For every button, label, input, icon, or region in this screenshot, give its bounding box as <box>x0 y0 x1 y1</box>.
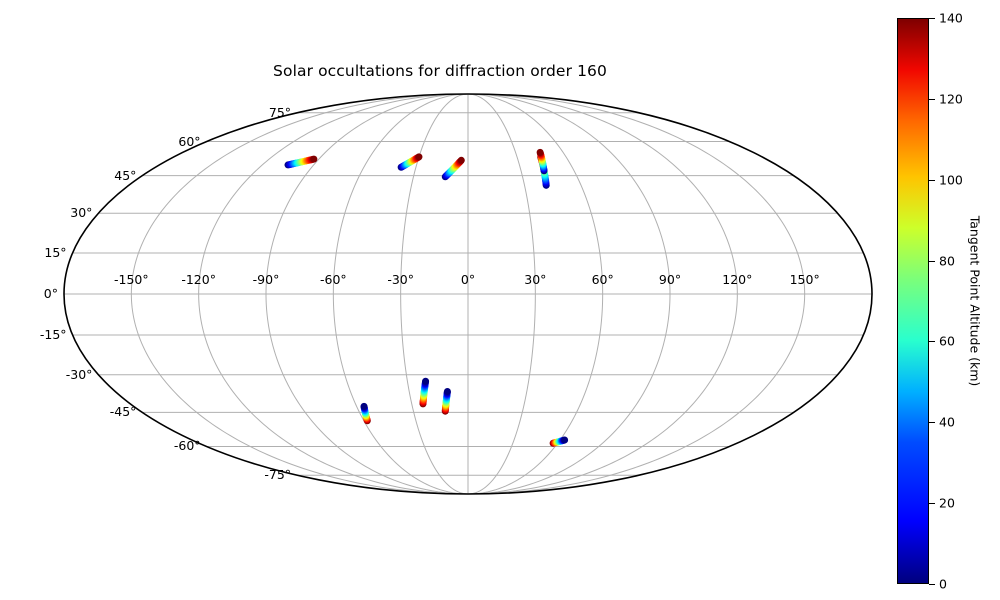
scatter-point <box>361 403 368 410</box>
mollweide-map <box>62 92 874 496</box>
data-points <box>284 149 568 447</box>
lon-tick--60: -60° <box>303 272 363 287</box>
lon-tick--120: -120° <box>169 272 229 287</box>
colorbar-tick-label-20: 20 <box>939 496 955 511</box>
lat-tick-15: 15° <box>7 245 67 260</box>
lon-tick-90: 90° <box>640 272 700 287</box>
graticule <box>64 94 872 494</box>
scatter-point <box>458 157 465 164</box>
figure-canvas: Solar occultations for diffraction order… <box>0 0 1000 600</box>
colorbar-tick-mark <box>929 261 935 262</box>
lon-tick-60: 60° <box>573 272 633 287</box>
colorbar-tick-mark <box>929 341 935 342</box>
scatter-point <box>444 388 451 395</box>
scatter-point <box>561 437 568 444</box>
scatter-point <box>537 149 544 156</box>
colorbar-tick-mark <box>929 18 935 19</box>
lon-tick--90: -90° <box>236 272 296 287</box>
lat-tick-75: 75° <box>231 105 291 120</box>
colorbar-tick-label-60: 60 <box>939 334 955 349</box>
colorbar-tick-label-40: 40 <box>939 415 955 430</box>
colorbar-tick-mark <box>929 180 935 181</box>
lat-tick--75: -75° <box>231 467 291 482</box>
colorbar-axis-label: Tangent Point Altitude (km) <box>968 216 983 387</box>
page-title: Solar occultations for diffraction order… <box>0 62 880 80</box>
lon-tick--150: -150° <box>101 272 161 287</box>
lat-tick--60: -60° <box>141 438 201 453</box>
colorbar-gradient <box>897 18 929 584</box>
colorbar: 020406080100120140 Tangent Point Altitud… <box>897 18 997 584</box>
lat-tick-45: 45° <box>76 168 136 183</box>
map-svg <box>62 92 874 496</box>
scatter-point <box>310 156 317 163</box>
colorbar-tick-mark <box>929 422 935 423</box>
scatter-point <box>422 378 429 385</box>
colorbar-tick-label-140: 140 <box>939 11 963 26</box>
lon-tick-30: 30° <box>505 272 565 287</box>
colorbar-tick-mark <box>929 99 935 100</box>
lon-tick-0: 0° <box>438 272 498 287</box>
lon-tick--30: -30° <box>371 272 431 287</box>
lat-tick--30: -30° <box>32 367 92 382</box>
lon-tick-150: 150° <box>775 272 835 287</box>
colorbar-tick-mark <box>929 503 935 504</box>
colorbar-tick-label-100: 100 <box>939 172 963 187</box>
colorbar-tick-label-120: 120 <box>939 91 963 106</box>
lat-tick--15: -15° <box>7 327 67 342</box>
lat-tick-60: 60° <box>141 134 201 149</box>
colorbar-tick-label-80: 80 <box>939 253 955 268</box>
scatter-point <box>415 153 422 160</box>
lat-tick--45: -45° <box>76 404 136 419</box>
lon-tick-120: 120° <box>707 272 767 287</box>
colorbar-tick-label-0: 0 <box>939 577 947 592</box>
colorbar-tick-mark <box>929 584 935 585</box>
lat-tick-0: 0° <box>0 286 58 301</box>
lat-tick-30: 30° <box>32 205 92 220</box>
